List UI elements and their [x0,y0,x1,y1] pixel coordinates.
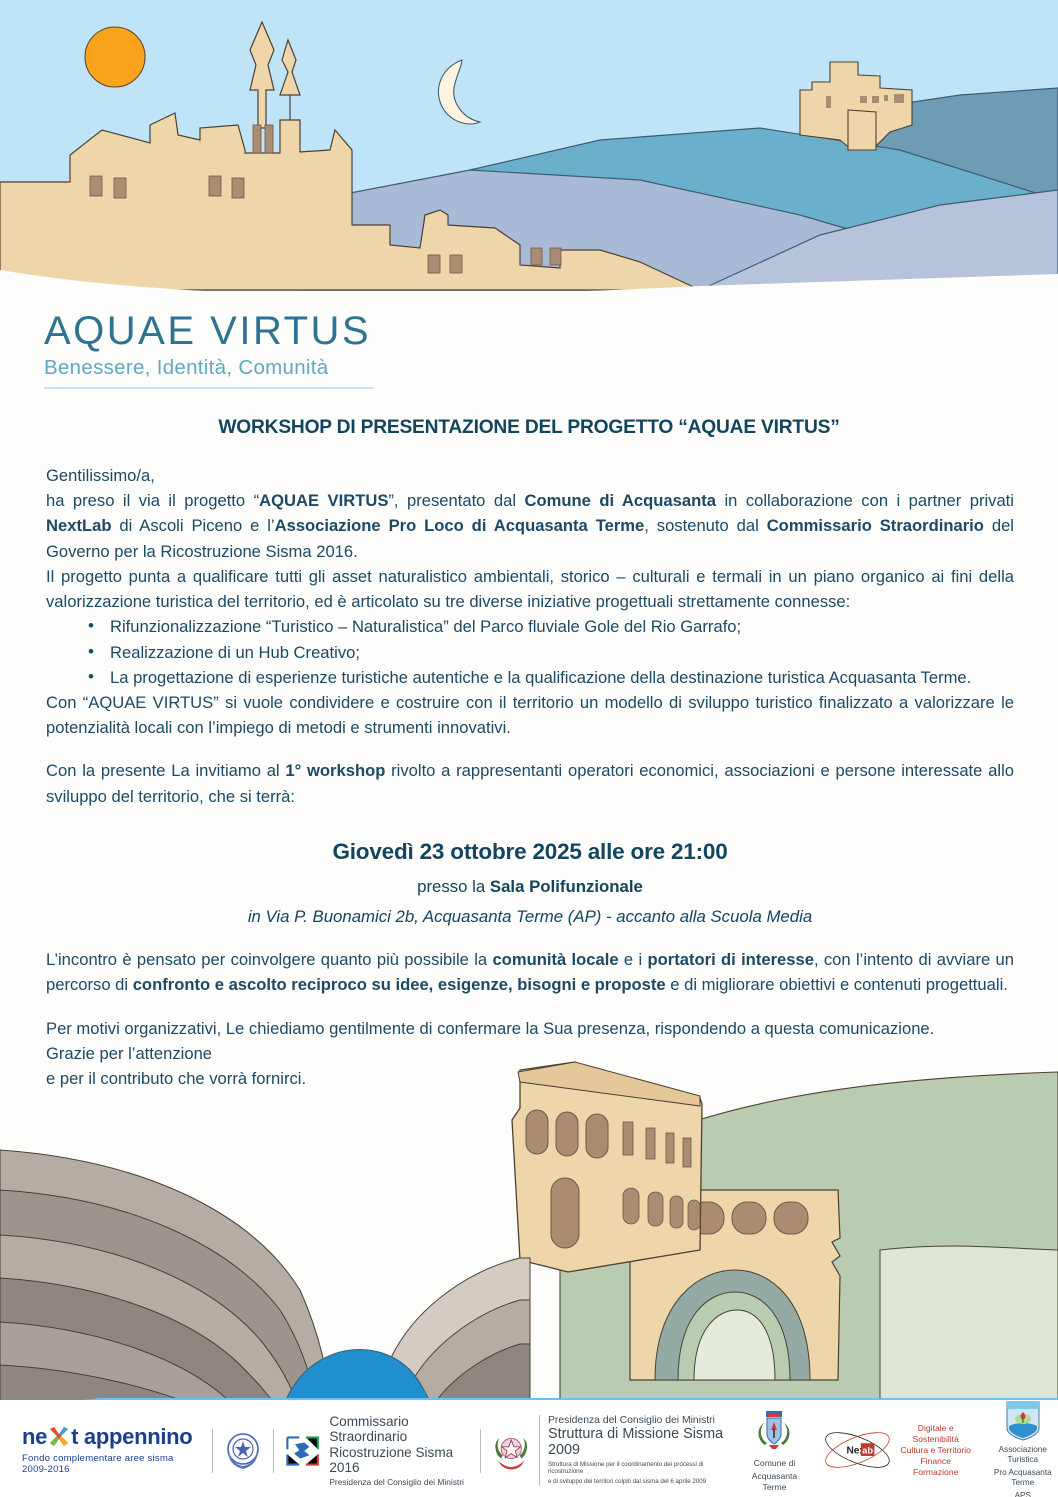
commissario-line-3: Presidenza del Consiglio dei Ministri [329,1477,465,1487]
main-door [551,1178,579,1248]
list-item: La progettazione di esperienze turistich… [46,665,1014,690]
logo-repubblica-italiana [223,1428,263,1474]
window [550,248,561,265]
next-appennino-subtitle: Fondo complementare aree sisma 2009-2016 [22,1453,194,1475]
logo-comune-acquasanta: Comune di Acquasanta Terme [744,1409,805,1492]
castle-window [826,96,831,108]
venue-name: Sala Polifunzionale [490,877,643,896]
struttura-line-3: Struttura di Missione per il coordinamen… [548,1461,726,1477]
divider [212,1429,213,1473]
bridge-window [774,1202,808,1234]
event-address: in Via P. Buonamici 2b, Acquasanta Terme… [46,904,1014,930]
comune-line-2: Acquasanta Terme [744,1471,805,1492]
logo-next-appennino: ne t appennino Fondo complementare aree … [22,1426,194,1475]
p5-f: confronto e ascolto reciproco su idee, e… [133,975,666,994]
p5-a: L’incontro è pensato per coinvolgere qua… [46,950,492,969]
page-title: WORKSHOP DI PRESENTAZIONE DEL PROGETTO “… [0,417,1058,439]
window [450,255,462,273]
bell-window [265,125,273,153]
aquae-virtus-logo: AQUAE VIRTUS Benessere, Identità, Comuni… [0,300,1058,389]
struttura-line-2: Struttura di Missione Sisma 2009 [548,1427,726,1459]
p5-d: portatori di interesse [647,950,813,969]
window [90,176,102,196]
p1-j: Commissario Straordinario [767,516,984,535]
bridge-window [732,1202,766,1234]
list-item: Rifunzionalizzazione “Turistico – Natura… [46,614,1014,639]
poster-page: AQUAE VIRTUS Benessere, Identità, Comuni… [0,0,1058,1497]
paragraph-6: Per motivi organizzativi, Le chiediamo g… [46,1016,1014,1041]
arch-window [648,1192,663,1226]
venue-prefix: presso la [417,877,490,896]
arch-window [586,1114,608,1158]
footer-logos: ne t appennino Fondo complementare aree … [0,1404,1058,1497]
window [114,178,126,198]
comune-line-1: Comune di [754,1458,796,1468]
paragraph-2: Il progetto punta a qualificare tutti gl… [46,564,1014,614]
spacer [46,998,1014,1016]
window [666,1133,674,1163]
p5-g: e di migliorare obiettivi e contenuti pr… [666,975,1008,994]
list-item: Realizzazione di un Hub Creativo; [46,640,1014,665]
p1-i: , sostenuto dal [644,516,766,535]
castle-window [872,96,879,103]
event-details: Giovedì 23 ottobre 2025 alle ore 21:00 p… [46,835,1014,929]
castle-window [884,95,888,101]
p4-a: Con la presente La invitiamo al [46,761,285,780]
window [683,1138,691,1167]
p1-h: Associazione Pro Loco di Acquasanta Term… [275,516,645,535]
greeting: Gentilissimo/a, [46,463,1014,488]
nextlab-line-4: Formazione [900,1467,972,1478]
castle-keep [848,110,876,150]
next-appennino-wordmark: ne t appennino [22,1426,194,1448]
paragraph-7: Grazie per l’attenzione [46,1041,1014,1066]
logo-nextlab: Next ab Digitale e Sostenibilità Cultura… [821,1423,972,1479]
initiatives-list: Rifunzionalizzazione “Turistico – Natura… [46,614,1014,690]
p1-b: AQUAE VIRTUS [259,491,388,510]
castle-window [860,96,867,103]
nextlab-orbit-icon: Next ab [821,1423,894,1477]
logo-struttura-missione: Presidenza del Consiglio dei Ministri St… [491,1415,727,1486]
spacer [46,740,1014,758]
arch-window [556,1112,578,1156]
commissario-line-2: Ricostruzione Sisma 2016 [329,1445,465,1476]
nextlab-line-1: Digitale e Sostenibilità [900,1423,972,1445]
proloco-line-2: Pro Acquasanta Terme [988,1468,1058,1488]
svg-text:ab: ab [862,1446,873,1456]
p5-c: e i [619,950,648,969]
p5-b: comunità locale [492,950,618,969]
window [232,178,244,198]
na-word-b: t appennino [71,1426,192,1448]
window [209,176,221,196]
p1-e: in collaborazione con i partner privati [716,491,1014,510]
green-hill-light [880,1246,1058,1400]
logo-pro-acquasanta: Associazione Turistica Pro Acquasanta Te… [988,1400,1058,1497]
proloco-crest-icon [1004,1400,1042,1442]
stemma-repubblica-icon [491,1426,531,1476]
logo-title: AQUAE VIRTUS [44,310,1058,352]
logo-tagline: Benessere, Identità, Comunità [44,356,1058,380]
sun-icon [85,27,145,87]
nextlab-line-3: Finance [900,1456,972,1467]
commissario-mark-icon [284,1429,321,1473]
p1-g: di Ascoli Piceno e l’ [111,516,274,535]
proloco-line-3: APS [1015,1491,1031,1497]
logo-commissario-straordinario: Commissario Straordinario Ricostruzione … [284,1414,466,1488]
event-date: Giovedì 23 ottobre 2025 alle ore 21:00 [46,835,1014,869]
nextlab-line-2: Cultura e Territorio [900,1445,972,1456]
logo-divider [44,387,374,389]
window [623,1122,633,1155]
event-venue: presso la Sala Polifunzionale [46,874,1014,900]
castle-window [894,94,904,103]
arch-window [688,1200,700,1230]
p1-f: NextLab [46,516,111,535]
letter-body: Gentilissimo/a, ha preso il via il proge… [0,463,1058,1091]
bottom-illustration [0,1060,1058,1410]
window [531,248,542,265]
bell-window [253,125,261,153]
na-word-a: ne [22,1426,47,1448]
p1-a: ha preso il via il progetto “ [46,491,259,510]
p4-b: 1° workshop [285,761,385,780]
document-content: AQUAE VIRTUS Benessere, Identità, Comuni… [0,300,1058,1091]
paragraph-1: ha preso il via il progetto “AQUAE VIRTU… [46,488,1014,564]
x-mark-icon [48,1426,70,1448]
divider [480,1429,481,1473]
spacer [46,929,1014,947]
comune-crest-icon [754,1409,794,1455]
p1-d: Comune di Acquasanta [524,491,716,510]
paragraph-3: Con “AQUAE VIRTUS” si vuole condividere … [46,690,1014,740]
paragraph-5: L’incontro è pensato per coinvolgere qua… [46,947,1014,997]
top-illustration [0,0,1058,320]
commissario-line-1: Commissario Straordinario [329,1414,465,1445]
struttura-line-4: e di sviluppo dei territori colpiti dal … [548,1478,726,1486]
window [646,1128,655,1159]
struttura-line-1: Presidenza del Consiglio dei Ministri [548,1415,726,1426]
divider [273,1429,274,1473]
paragraph-8: e per il contributo che vorrà fornirci. [46,1066,1014,1091]
paragraph-4: Con la presente La invitiamo al 1° works… [46,758,1014,808]
window [428,255,440,273]
p1-c: ”, presentato dal [388,491,524,510]
arch-window [526,1110,548,1154]
arch-window [623,1188,639,1224]
proloco-line-1: Associazione Turistica [988,1445,1058,1465]
repubblica-emblem-icon [223,1428,263,1474]
arch-window [670,1196,683,1228]
